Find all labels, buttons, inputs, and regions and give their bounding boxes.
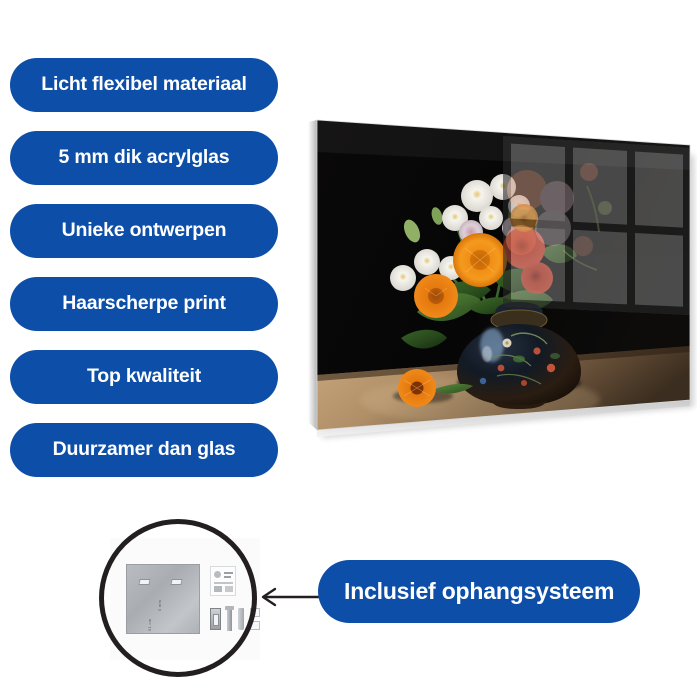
screw-icon [227, 606, 232, 631]
feature-pill-label: Unieke ontwerpen [62, 221, 227, 241]
feature-pill-haarscherpe-print[interactable]: Haarscherpe print [10, 277, 278, 331]
artwork-face [317, 120, 690, 430]
feature-pill-5-mm-dik-acrylglas[interactable]: 5 mm dik acrylglas [10, 131, 278, 185]
spacer-pad-icon [250, 621, 260, 630]
feature-pill-top-kwaliteit[interactable]: Top kwaliteit [10, 350, 278, 404]
hanging-system-callout-circle: 5 mm 51 cm [99, 519, 257, 677]
feature-pill-licht-flexibel-materiaal[interactable]: Licht flexibel materiaal [10, 58, 278, 112]
callout-pill-inclusief-ophangsysteem[interactable]: Inclusief ophangsysteem [318, 560, 640, 623]
feature-pill-list: Licht flexibel materiaal 5 mm dik acrylg… [10, 58, 278, 496]
acrylic-left-edge [308, 120, 317, 430]
plate-slot-icon [138, 579, 150, 585]
plate-slot-icon [170, 579, 182, 585]
feature-pill-label: Duurzamer dan glas [53, 440, 236, 460]
feature-pill-label: Haarscherpe print [62, 294, 226, 314]
plate-dimension-label-2: 51 cm [147, 619, 152, 631]
product-mockup-canvas: Licht flexibel materiaal 5 mm dik acrylg… [0, 0, 700, 700]
feature-pill-duurzamer-dan-glas[interactable]: Duurzamer dan glas [10, 423, 278, 477]
hanging-hardware-photo: 5 mm 51 cm [110, 538, 260, 660]
feature-pill-label: Licht flexibel materiaal [41, 75, 246, 95]
arrow-left-icon [255, 585, 325, 614]
mounting-plate-icon: 5 mm 51 cm [126, 564, 200, 634]
feature-pill-unieke-ontwerpen[interactable]: Unieke ontwerpen [10, 204, 278, 258]
acrylic-panel-mockup [305, 100, 697, 445]
instruction-card-icon [210, 566, 236, 596]
bracket-icon [210, 608, 221, 630]
feature-pill-label: Top kwaliteit [87, 367, 201, 387]
callout-pill-label: Inclusief ophangsysteem [344, 580, 614, 603]
feature-pill-label: 5 mm dik acrylglas [59, 148, 230, 168]
plate-dimension-label-1: 5 mm [157, 600, 162, 611]
wall-anchor-icon [238, 608, 244, 630]
